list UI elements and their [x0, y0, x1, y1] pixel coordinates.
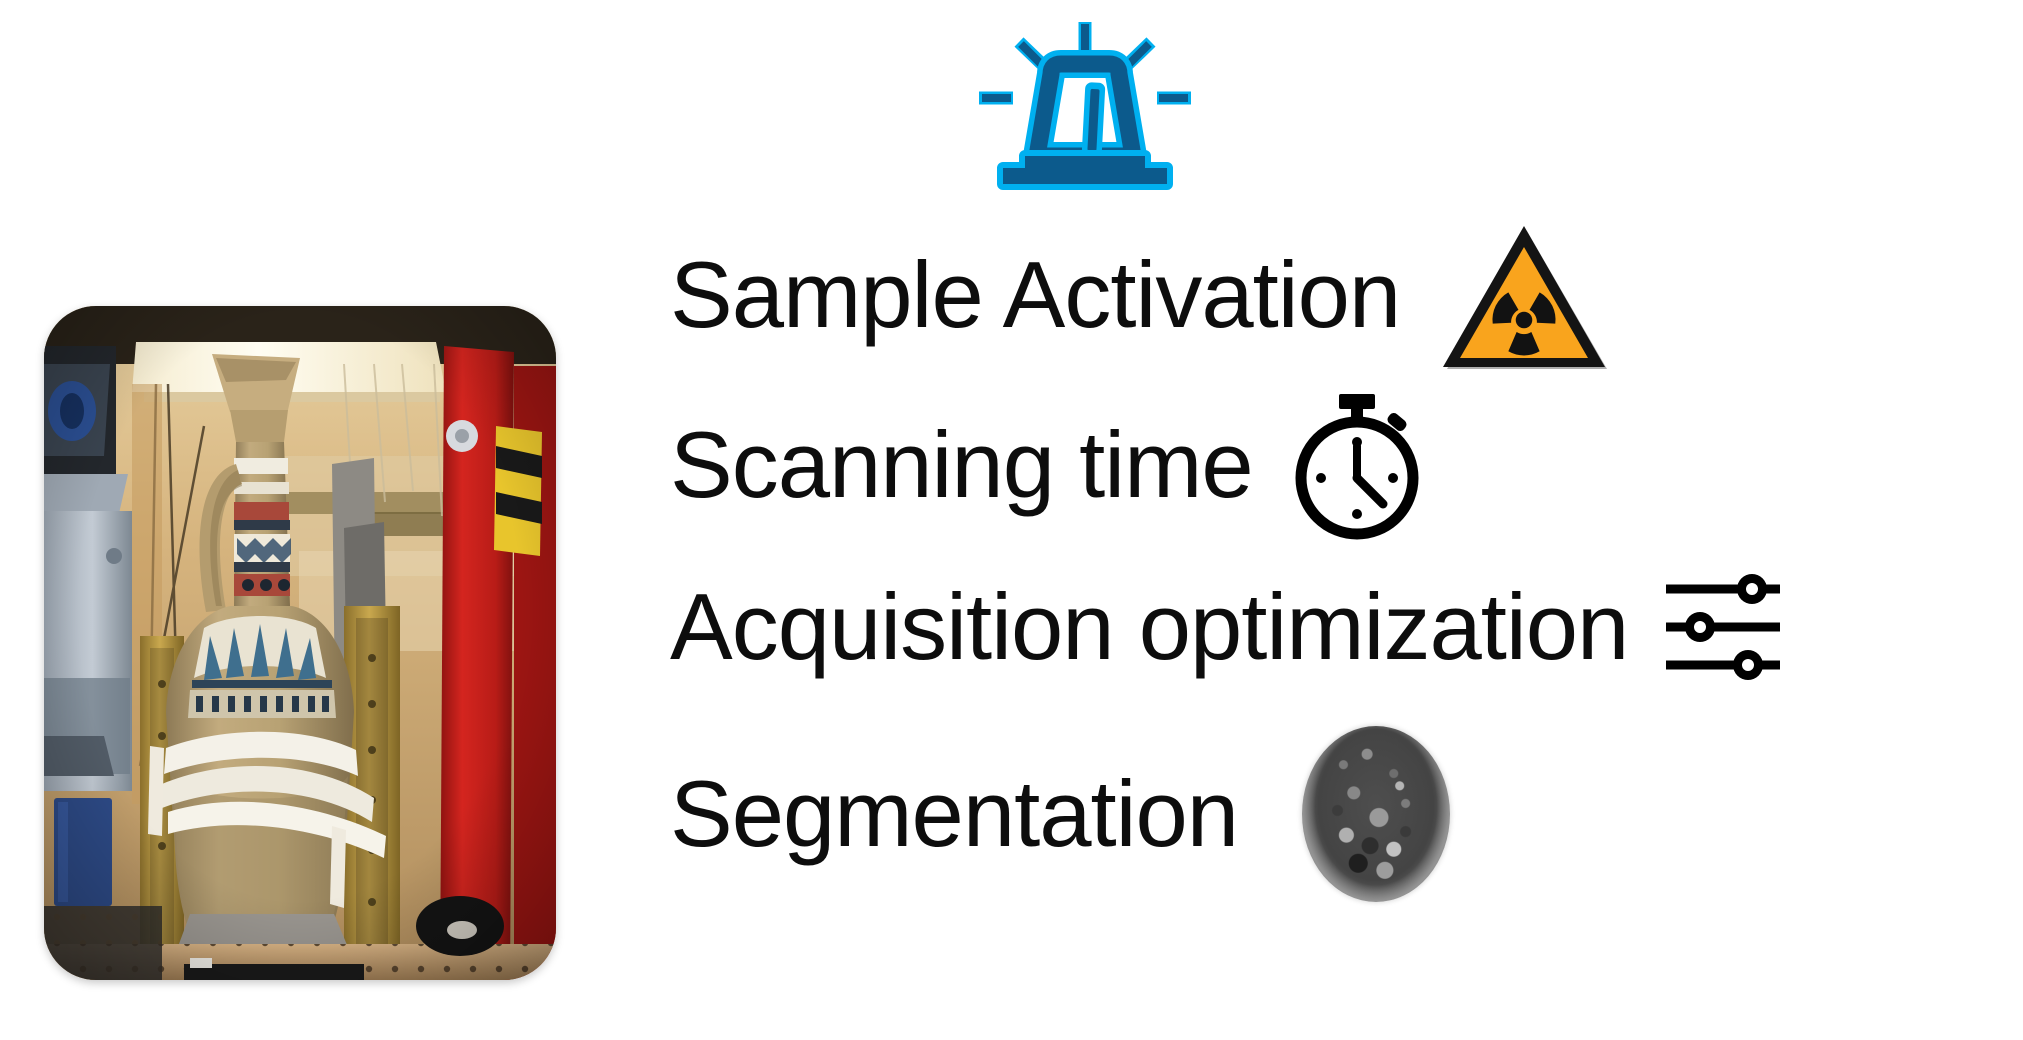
segmentation-label: Segmentation: [670, 767, 1238, 861]
stopwatch-tick-9: [1316, 473, 1326, 483]
photograph-scene: [44, 306, 556, 980]
stopwatch-tick-3: [1388, 473, 1398, 483]
ct-scan-setup-photograph: [44, 306, 556, 980]
photo-vignette: [44, 306, 556, 980]
slider-knob-3-hole: [1742, 659, 1754, 671]
stopwatch-icon-svg: [1287, 390, 1427, 540]
stopwatch-icon: [1287, 390, 1427, 540]
ct-cross-section-icon: [1296, 722, 1456, 907]
radiation-warning-icon: [1440, 220, 1608, 370]
ct-cross-section-disc: [1302, 726, 1450, 902]
list-item-sample-activation: Sample Activation: [670, 230, 1608, 360]
sliders-icon: [1658, 567, 1788, 687]
list-item-scanning-time: Scanning time: [670, 400, 1427, 530]
list-item-acquisition-optimization: Acquisition optimization: [670, 562, 1788, 692]
trefoil-center: [1516, 312, 1533, 329]
siren-base: [1003, 156, 1167, 184]
radiation-warning-icon-svg: [1440, 220, 1608, 370]
scanning-time-label: Scanning time: [670, 418, 1253, 512]
acquisition-optimization-label: Acquisition optimization: [670, 580, 1628, 674]
stopwatch-tick-6: [1352, 509, 1362, 519]
process-challenges-list: Sample Activation Scanning time: [670, 222, 2020, 1022]
slider-tracks: [1666, 589, 1780, 665]
sliders-icon-svg: [1658, 567, 1788, 687]
siren-icon: [955, 10, 1215, 190]
list-item-segmentation: Segmentation: [670, 734, 1456, 894]
slider-knob-1-hole: [1746, 583, 1758, 595]
slider-knob-2-hole: [1694, 621, 1706, 633]
siren-icon-svg: [955, 10, 1215, 190]
stopwatch-crown: [1339, 394, 1375, 409]
sample-activation-label: Sample Activation: [670, 248, 1400, 342]
